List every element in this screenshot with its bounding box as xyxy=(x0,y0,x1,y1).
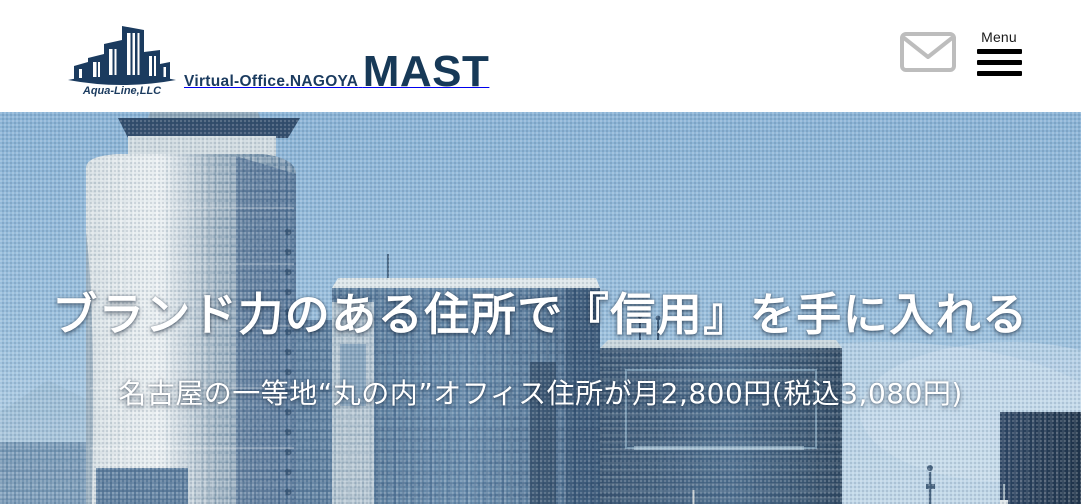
site-logo-link[interactable]: Aqua-Line,LLC Virtual-Office.NAGOYA MAST xyxy=(66,16,489,98)
hamburger-icon xyxy=(977,49,1022,76)
hero-cityscape-image xyxy=(0,112,1081,504)
hamburger-bar-2 xyxy=(977,60,1022,65)
building-skyline-logo-icon: Aqua-Line,LLC xyxy=(66,18,178,98)
logo-tagline: Virtual-Office.NAGOYA xyxy=(184,73,358,90)
mail-button[interactable] xyxy=(899,28,957,74)
menu-label: Menu xyxy=(981,30,1017,45)
header-actions: Menu xyxy=(899,28,1023,76)
page-root: Aqua-Line,LLC Virtual-Office.NAGOYA MAST… xyxy=(0,0,1081,504)
logo-wordmark: Virtual-Office.NAGOYA MAST xyxy=(184,52,489,98)
logo-company-text: Aqua-Line,LLC xyxy=(82,85,162,97)
envelope-icon xyxy=(899,29,957,73)
hamburger-bar-3 xyxy=(977,71,1022,76)
hamburger-bar-1 xyxy=(977,49,1022,54)
menu-button[interactable]: Menu xyxy=(975,28,1023,76)
site-header: Aqua-Line,LLC Virtual-Office.NAGOYA MAST… xyxy=(0,0,1081,112)
logo-name: MAST xyxy=(363,47,490,96)
hero-section: ブランド力のある住所で『信用』を手に入れる 名古屋の一等地“丸の内”オフィス住所… xyxy=(0,112,1081,504)
